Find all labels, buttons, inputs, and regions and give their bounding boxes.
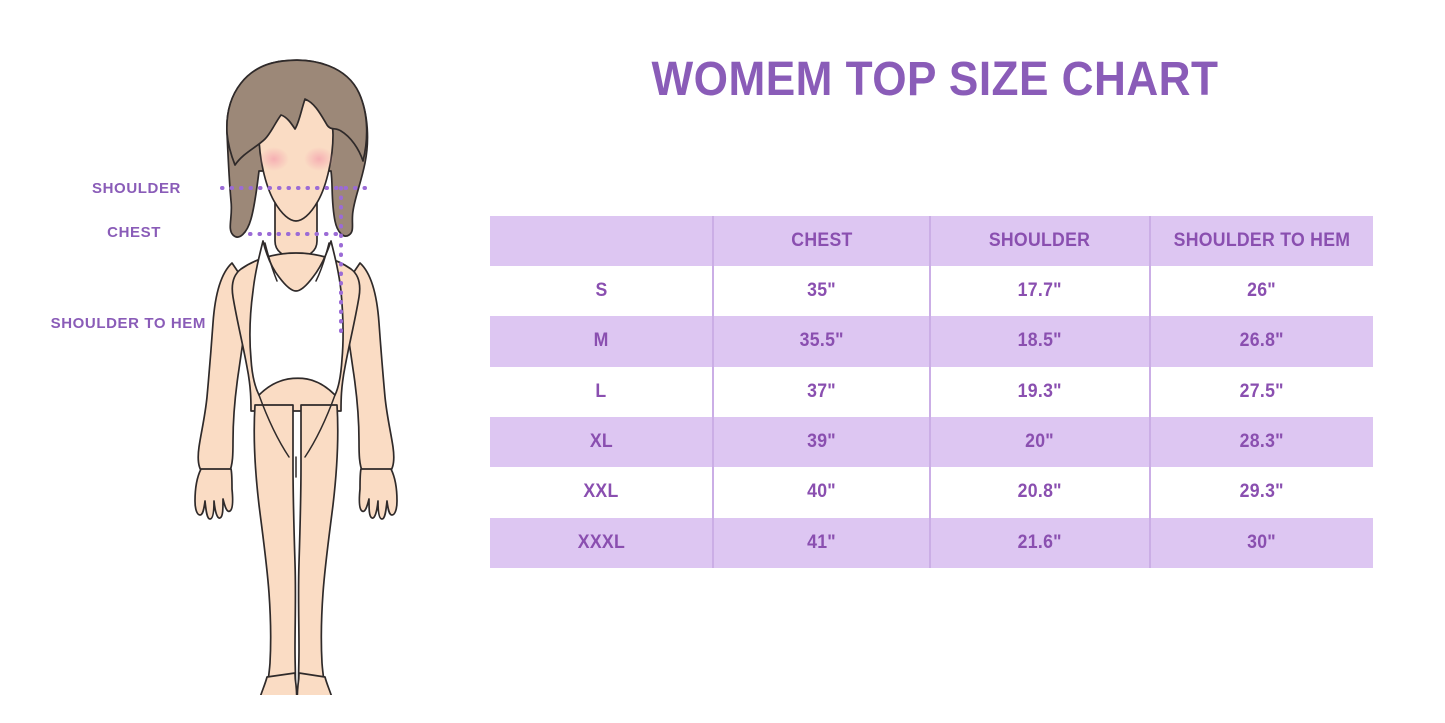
table-row: XL 39" 20" 28.3" [490, 417, 1373, 467]
measurement-label-chest: CHEST [0, 224, 161, 241]
header-label-chest: CHEST [791, 230, 852, 252]
header-cell-chest: CHEST [713, 216, 930, 266]
cell-shoulder: 20" [930, 417, 1150, 467]
measurement-label-shoulder: SHOULDER [0, 180, 181, 197]
size-chart-table: CHEST SHOULDER SHOULDER TO HEM S 35" 17.… [490, 216, 1373, 568]
table-row: XXXL 41" 21.6" 30" [490, 518, 1373, 568]
cell-chest: 35" [713, 266, 930, 316]
blush-right [304, 147, 334, 171]
table-header-row: CHEST SHOULDER SHOULDER TO HEM [490, 216, 1373, 266]
cell-size: L [490, 367, 713, 417]
cell-size: XL [490, 417, 713, 467]
foot-right [297, 673, 334, 695]
foot-left [258, 673, 297, 695]
header-cell-size [490, 216, 713, 266]
cell-chest: 41" [713, 518, 930, 568]
header-cell-shoulder-to-hem: SHOULDER TO HEM [1150, 216, 1373, 266]
cell-shoulder: 19.3" [930, 367, 1150, 417]
cell-size: S [490, 266, 713, 316]
cell-shoulder: 17.7" [930, 266, 1150, 316]
measurement-label-shoulder-to-hem: SHOULDER TO HEM [0, 315, 206, 332]
hand-right [359, 469, 397, 519]
leg-left [254, 405, 295, 691]
cell-size: XXXL [490, 518, 713, 568]
cell-shoulder-to-hem: 29.3" [1150, 467, 1373, 517]
blush-left [259, 147, 289, 171]
page-title: WOMEM TOP SIZE CHART [526, 52, 1345, 107]
cell-shoulder: 21.6" [930, 518, 1150, 568]
cell-shoulder: 20.8" [930, 467, 1150, 517]
leg-right [299, 405, 338, 691]
table-row: XXL 40" 20.8" 29.3" [490, 467, 1373, 517]
header-cell-shoulder: SHOULDER [930, 216, 1150, 266]
cell-shoulder-to-hem: 26.8" [1150, 316, 1373, 366]
cell-shoulder-to-hem: 28.3" [1150, 417, 1373, 467]
table-row: L 37" 19.3" 27.5" [490, 367, 1373, 417]
cell-chest: 35.5" [713, 316, 930, 366]
cell-shoulder-to-hem: 30" [1150, 518, 1373, 568]
header-label-shoulder-to-hem: SHOULDER TO HEM [1174, 230, 1351, 252]
cell-chest: 37" [713, 367, 930, 417]
cell-size: XXL [490, 467, 713, 517]
table-row: S 35" 17.7" 26" [490, 266, 1373, 316]
cell-chest: 40" [713, 467, 930, 517]
cell-chest: 39" [713, 417, 930, 467]
header-label-shoulder: SHOULDER [989, 230, 1090, 252]
cell-size: M [490, 316, 713, 366]
table-row: M 35.5" 18.5" 26.8" [490, 316, 1373, 366]
cell-shoulder: 18.5" [930, 316, 1150, 366]
woman-body-illustration [155, 45, 445, 695]
size-chart-page: WOMEM TOP SIZE CHART [0, 0, 1445, 723]
cell-shoulder-to-hem: 27.5" [1150, 367, 1373, 417]
cell-shoulder-to-hem: 26" [1150, 266, 1373, 316]
hand-left [195, 469, 233, 519]
